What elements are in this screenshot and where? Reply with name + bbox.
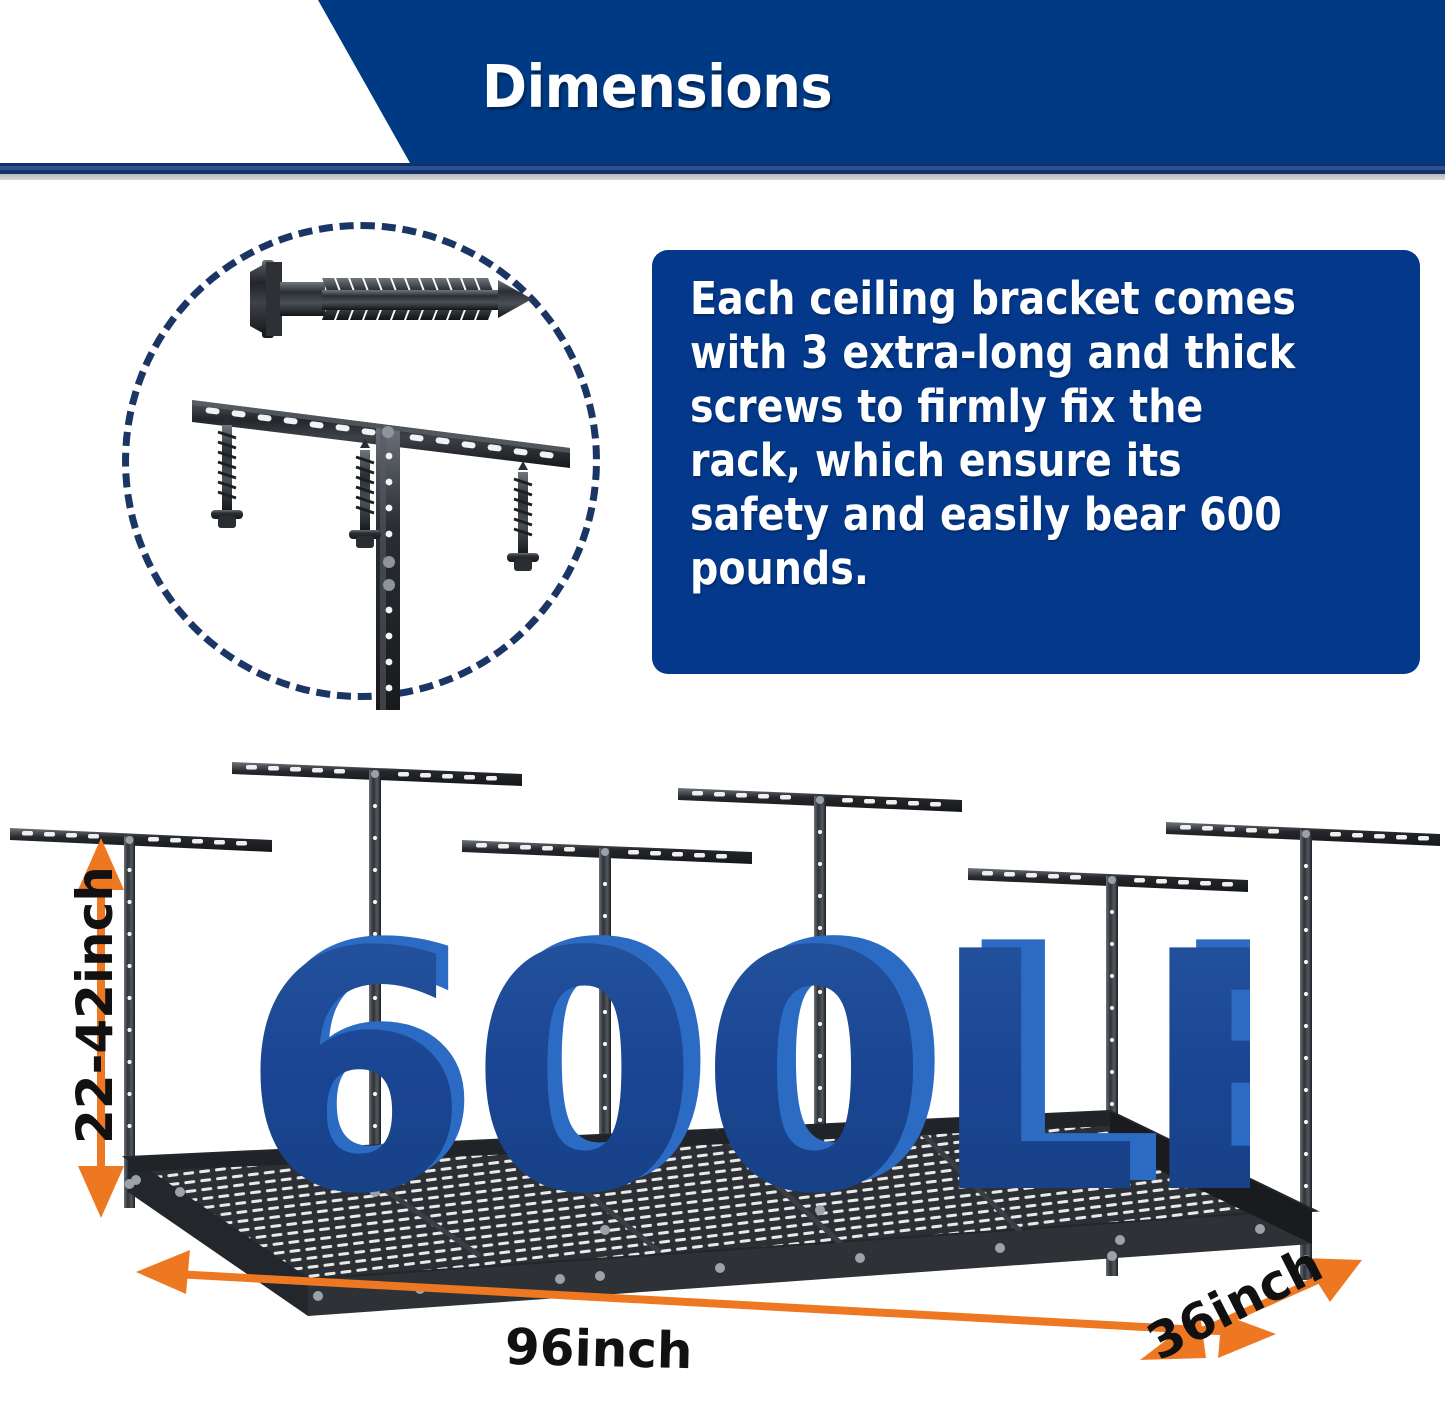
height-dimension-label: 22-42inch xyxy=(66,884,124,1144)
length-dimension-arrow xyxy=(136,1250,1276,1358)
hardware-detail-illustration xyxy=(110,210,620,720)
page-title: Dimensions xyxy=(482,52,832,121)
feature-callout-box: Each ceiling bracket comes with 3 extra-… xyxy=(652,250,1420,674)
mounting-screw-icon-1 xyxy=(211,414,243,528)
mounting-screw-icon-3 xyxy=(507,461,539,571)
feature-callout-text: Each ceiling bracket comes with 3 extra-… xyxy=(690,272,1306,596)
header-divider-gray xyxy=(0,174,1445,180)
header-divider-mid xyxy=(0,166,1445,170)
length-dimension-label: 96inch xyxy=(504,1318,693,1380)
hex-head-lag-screw-icon xyxy=(250,260,532,338)
